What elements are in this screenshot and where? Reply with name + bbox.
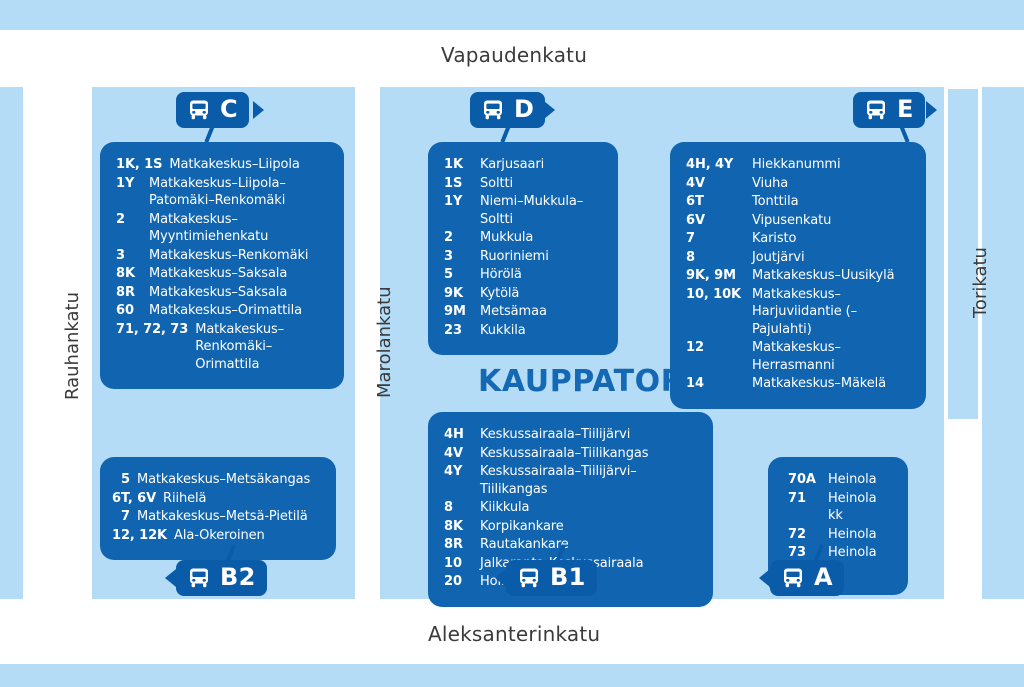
line-destination: Heinola bbox=[828, 471, 892, 489]
stop-b1-direction-arrow bbox=[495, 569, 506, 587]
line-row: 8K Matkakeskus–Saksala bbox=[116, 265, 328, 283]
stop-marker-c[interactable]: C bbox=[176, 92, 249, 128]
line-code: 4V bbox=[686, 175, 752, 193]
line-row: 10, 10K Matkakeskus– Harjuviidantie (–Pa… bbox=[686, 286, 910, 339]
line-destination: Karjusaari bbox=[480, 156, 602, 174]
line-row: 12, 12K Ala-Okeroinen bbox=[112, 527, 320, 545]
line-code: 20 bbox=[444, 573, 480, 591]
stop-letter: B2 bbox=[220, 565, 256, 589]
stop-panel-b2: 5 Matkakeskus–Metsäkangas 6T, 6V Riihelä… bbox=[100, 457, 336, 560]
line-destination: Matkakeskus–Liipola bbox=[169, 156, 299, 174]
line-code: 10 bbox=[444, 555, 480, 573]
line-destination: Matkakeskus–Orimattila bbox=[149, 302, 302, 320]
line-code: 4Y bbox=[444, 463, 480, 481]
stop-c-direction-arrow bbox=[253, 101, 264, 119]
stop-marker-e[interactable]: E bbox=[853, 92, 925, 128]
line-row: 4H, 4Y Hiekkanummi bbox=[686, 156, 910, 174]
line-code: 23 bbox=[444, 322, 480, 340]
line-code: 8 bbox=[686, 249, 752, 267]
line-row: 2 Mukkula bbox=[444, 229, 602, 247]
line-row: 60 Matkakeskus–Orimattila bbox=[116, 302, 328, 320]
line-row: 72 Heinola bbox=[788, 526, 892, 544]
stop-marker-b2[interactable]: B2 bbox=[176, 560, 267, 596]
line-destination: Matkakeskus–Liipola– Patomäki–Renkomäki bbox=[149, 175, 286, 210]
line-row: 8 Joutjärvi bbox=[686, 249, 910, 267]
line-destination: Matkakeskus–Metsä-Pietilä bbox=[137, 508, 308, 526]
line-code: 3 bbox=[116, 247, 142, 265]
line-code: 9K, 9M bbox=[686, 267, 752, 285]
line-destination: Kukkila bbox=[480, 322, 602, 340]
line-destination: Matkakeskus–Saksala bbox=[149, 265, 287, 283]
line-row: 1K, 1S Matkakeskus–Liipola bbox=[116, 156, 328, 174]
line-destination: Tonttila bbox=[752, 193, 910, 211]
line-row: 1Y Niemi–Mukkula–Soltti bbox=[444, 193, 602, 228]
line-row: 3 Matkakeskus–Renkomäki bbox=[116, 247, 328, 265]
line-row: 1Y Matkakeskus–Liipola– Patomäki–Renkomä… bbox=[116, 175, 328, 210]
line-code: 4H, 4Y bbox=[686, 156, 752, 174]
line-code: 2 bbox=[444, 229, 480, 247]
bus-icon bbox=[187, 567, 211, 589]
line-destination: Keskussairaala–Tiilijärvi bbox=[480, 426, 697, 444]
line-destination: Matkakeskus–Herrasmanni bbox=[752, 339, 910, 374]
line-code: 4V bbox=[444, 445, 480, 463]
line-code: 5 bbox=[444, 266, 480, 284]
line-row: 71, 72, 73 Matkakeskus– Renkomäki–Orimat… bbox=[116, 321, 328, 374]
line-code: 8R bbox=[116, 284, 142, 302]
line-row: 4H Keskussairaala–Tiilijärvi bbox=[444, 426, 697, 444]
line-code: 9M bbox=[444, 303, 480, 321]
line-code: 6T, 6V bbox=[112, 490, 156, 508]
line-destination: Matkakeskus–Saksala bbox=[149, 284, 287, 302]
block-top-strip bbox=[0, 0, 1024, 30]
line-row: 9K Kytölä bbox=[444, 285, 602, 303]
stop-panel-e: 4H, 4Y Hiekkanummi 4V Viuha 6T Tonttila … bbox=[670, 142, 926, 409]
line-code: 8 bbox=[444, 499, 480, 517]
street-label-vapaudenkatu: Vapaudenkatu bbox=[441, 43, 587, 67]
line-destination: Soltti bbox=[480, 175, 602, 193]
line-row: 8 Kiikkula bbox=[444, 499, 697, 517]
line-destination: Matkakeskus– Myyntimiehenkatu bbox=[149, 211, 268, 246]
line-row: 7 Karisto bbox=[686, 230, 910, 248]
stop-letter: B1 bbox=[550, 565, 586, 589]
line-destination: Mukkula bbox=[480, 229, 602, 247]
line-row: 12 Matkakeskus–Herrasmanni bbox=[686, 339, 910, 374]
line-code: 12 bbox=[686, 339, 752, 357]
line-code: 1Y bbox=[444, 193, 480, 211]
line-row: 4Y Keskussairaala–Tiilijärvi–Tiilikangas bbox=[444, 463, 697, 498]
line-row: 3 Ruoriniemi bbox=[444, 248, 602, 266]
line-destination: Ruoriniemi bbox=[480, 248, 602, 266]
line-code: 8K bbox=[444, 518, 480, 536]
line-destination: Metsämaa bbox=[480, 303, 602, 321]
line-destination: Heinola kk bbox=[828, 490, 892, 525]
stop-marker-d[interactable]: D bbox=[470, 92, 545, 128]
line-destination: Matkakeskus–Renkomäki bbox=[149, 247, 308, 265]
line-row: 8K Korpikankare bbox=[444, 518, 697, 536]
line-code: 7 bbox=[686, 230, 752, 248]
line-row: 9K, 9M Matkakeskus–Uusikylä bbox=[686, 267, 910, 285]
line-destination: Matkakeskus–Mäkelä bbox=[752, 375, 910, 393]
stop-panel-c: 1K, 1S Matkakeskus–Liipola 1Y Matkakesku… bbox=[100, 142, 344, 389]
stop-a-direction-arrow bbox=[759, 569, 770, 587]
line-row: 8R Rautakankare bbox=[444, 536, 697, 554]
street-label-marolankatu: Marolankatu bbox=[374, 286, 395, 398]
line-code: 2 bbox=[116, 211, 142, 229]
block-bottom-strip bbox=[0, 664, 1024, 687]
line-destination: Matkakeskus–Uusikylä bbox=[752, 267, 910, 285]
line-destination: Keskussairaala–Tiilijärvi–Tiilikangas bbox=[480, 463, 697, 498]
line-destination: Hiekkanummi bbox=[752, 156, 910, 174]
line-destination: Kytölä bbox=[480, 285, 602, 303]
stop-letter: E bbox=[897, 97, 914, 121]
line-code: 1Y bbox=[116, 175, 142, 193]
street-label-rauhankatu: Rauhankatu bbox=[62, 292, 83, 400]
block-right-edge bbox=[982, 87, 1024, 599]
stop-letter: D bbox=[514, 97, 534, 121]
block-left-edge bbox=[0, 87, 23, 599]
street-label-aleksanterinkatu: Aleksanterinkatu bbox=[428, 622, 600, 646]
bus-icon bbox=[187, 99, 211, 121]
line-row: 2 Matkakeskus– Myyntimiehenkatu bbox=[116, 211, 328, 246]
line-code: 7 bbox=[121, 508, 130, 526]
stop-panel-d: 1K Karjusaari 1S Soltti 1Y Niemi–Mukkula… bbox=[428, 142, 618, 355]
line-destination: Kiikkula bbox=[480, 499, 697, 517]
stop-letter: A bbox=[814, 565, 833, 589]
line-code: 6V bbox=[686, 212, 752, 230]
line-code: 60 bbox=[116, 302, 142, 320]
line-row: 5 Matkakeskus–Metsäkangas bbox=[112, 471, 320, 489]
line-code: 9K bbox=[444, 285, 480, 303]
line-row: 23 Kukkila bbox=[444, 322, 602, 340]
line-destination: Hörölä bbox=[480, 266, 602, 284]
line-destination: Matkakeskus– Harjuviidantie (–Pajulahti) bbox=[752, 286, 910, 339]
bus-icon bbox=[864, 99, 888, 121]
line-code: 71, 72, 73 bbox=[116, 321, 188, 339]
stop-d-direction-arrow bbox=[544, 101, 555, 119]
stop-letter: C bbox=[220, 97, 238, 121]
line-row: 9M Metsämaa bbox=[444, 303, 602, 321]
stop-marker-a[interactable]: A bbox=[770, 560, 844, 596]
stop-b2-direction-arrow bbox=[165, 569, 176, 587]
line-row: 8R Matkakeskus–Saksala bbox=[116, 284, 328, 302]
line-row: 6T, 6V Riihelä bbox=[112, 490, 320, 508]
line-destination: Keskussairaala–Tiilikangas bbox=[480, 445, 697, 463]
line-code: 8K bbox=[116, 265, 142, 283]
line-row: 4V Keskussairaala–Tiilikangas bbox=[444, 445, 697, 463]
line-code: 1S bbox=[444, 175, 480, 193]
line-destination: Niemi–Mukkula–Soltti bbox=[480, 193, 602, 228]
line-destination: Rautakankare bbox=[480, 536, 697, 554]
line-code: 71 bbox=[788, 490, 828, 508]
bus-stop-map: Vapaudenkatu Aleksanterinkatu Rauhankatu… bbox=[0, 0, 1024, 687]
bus-icon bbox=[781, 567, 805, 589]
street-label-torikatu: Torikatu bbox=[970, 247, 991, 318]
line-destination: Korpikankare bbox=[480, 518, 697, 536]
line-destination: Riihelä bbox=[163, 490, 206, 508]
line-code: 4H bbox=[444, 426, 480, 444]
line-code: 5 bbox=[121, 471, 130, 489]
line-row: 70A Heinola bbox=[788, 471, 892, 489]
line-code: 1K, 1S bbox=[116, 156, 162, 174]
line-destination: Matkakeskus–Metsäkangas bbox=[137, 471, 310, 489]
line-code: 1K bbox=[444, 156, 480, 174]
line-code: 12, 12K bbox=[112, 527, 167, 545]
line-destination: Heinola bbox=[828, 526, 892, 544]
stop-e-direction-arrow bbox=[926, 101, 937, 119]
line-destination: Joutjärvi bbox=[752, 249, 910, 267]
bus-icon bbox=[517, 567, 541, 589]
bus-icon bbox=[481, 99, 505, 121]
line-code: 70A bbox=[788, 471, 828, 489]
stop-marker-b1[interactable]: B1 bbox=[506, 560, 597, 596]
line-destination: Vipusenkatu bbox=[752, 212, 910, 230]
line-destination: Ala-Okeroinen bbox=[174, 527, 265, 545]
line-row: 4V Viuha bbox=[686, 175, 910, 193]
line-code: 10, 10K bbox=[686, 286, 752, 304]
line-code: 72 bbox=[788, 526, 828, 544]
line-row: 14 Matkakeskus–Mäkelä bbox=[686, 375, 910, 393]
line-row: 71 Heinola kk bbox=[788, 490, 892, 525]
line-row: 1S Soltti bbox=[444, 175, 602, 193]
line-row: 6V Vipusenkatu bbox=[686, 212, 910, 230]
line-code: 3 bbox=[444, 248, 480, 266]
line-destination: Viuha bbox=[752, 175, 910, 193]
line-row: 5 Hörölä bbox=[444, 266, 602, 284]
line-row: 6T Tonttila bbox=[686, 193, 910, 211]
line-destination: Karisto bbox=[752, 230, 910, 248]
line-row: 1K Karjusaari bbox=[444, 156, 602, 174]
line-row: 7 Matkakeskus–Metsä-Pietilä bbox=[112, 508, 320, 526]
line-code: 14 bbox=[686, 375, 752, 393]
line-code: 8R bbox=[444, 536, 480, 554]
line-destination: Matkakeskus– Renkomäki–Orimattila bbox=[195, 321, 328, 374]
line-code: 6T bbox=[686, 193, 752, 211]
